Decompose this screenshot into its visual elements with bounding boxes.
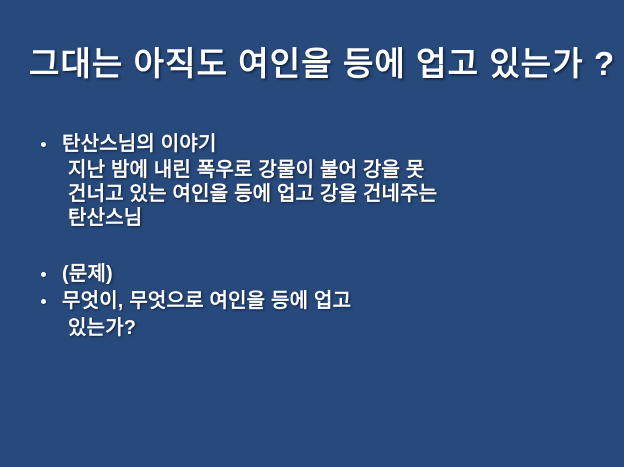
bullet-sub-line: 건너고 있는 여인을 등에 업고 강을 건네주는 — [36, 182, 616, 206]
bullet-sub-line: 지난 밤에 내린 폭우로 강물이 불어 강을 못 — [36, 158, 616, 182]
bullet-item-label: 무엇이, 무엇으로 여인을 등에 업고 — [62, 288, 351, 315]
slide-body-content: 탄산스님의 이야기 지난 밤에 내린 폭우로 강물이 불어 강을 못 건너고 있… — [36, 131, 616, 342]
bullet-item: (문제) — [36, 261, 616, 288]
bullet-sub-line: 탄산스님 — [36, 206, 616, 230]
bullet-item-label: (문제) — [62, 261, 113, 288]
bullet-item-label: 탄산스님의 이야기 — [62, 131, 217, 158]
presentation-slide: 그대는 아직도 여인을 등에 업고 있는가 ? 탄산스님의 이야기 지난 밤에 … — [0, 0, 624, 467]
bullet-item: 무엇이, 무엇으로 여인을 등에 업고 — [36, 288, 616, 315]
slide-title: 그대는 아직도 여인을 등에 업고 있는가 ? — [29, 44, 615, 84]
bullet-dot-icon — [41, 272, 46, 277]
bullet-continuation-line: 있는가? — [36, 315, 616, 342]
bullet-dot-icon — [41, 299, 46, 304]
bullet-item: 탄산스님의 이야기 — [36, 131, 616, 158]
bullet-dot-icon — [41, 142, 46, 147]
blank-line-spacer — [36, 230, 616, 261]
